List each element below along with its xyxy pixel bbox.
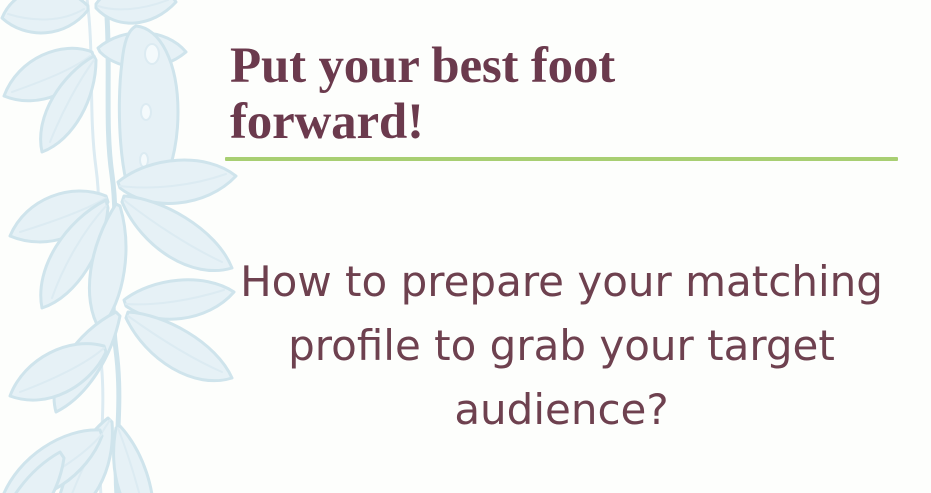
slide-subtitle: How to prepare your matching profile to …: [225, 250, 898, 442]
slide-title: Put your best foot forward!: [230, 38, 830, 150]
title-divider-rule: [225, 157, 898, 161]
slide-canvas: Put your best foot forward! How to prepa…: [0, 0, 931, 493]
slide-content: Put your best foot forward! How to prepa…: [225, 0, 900, 493]
